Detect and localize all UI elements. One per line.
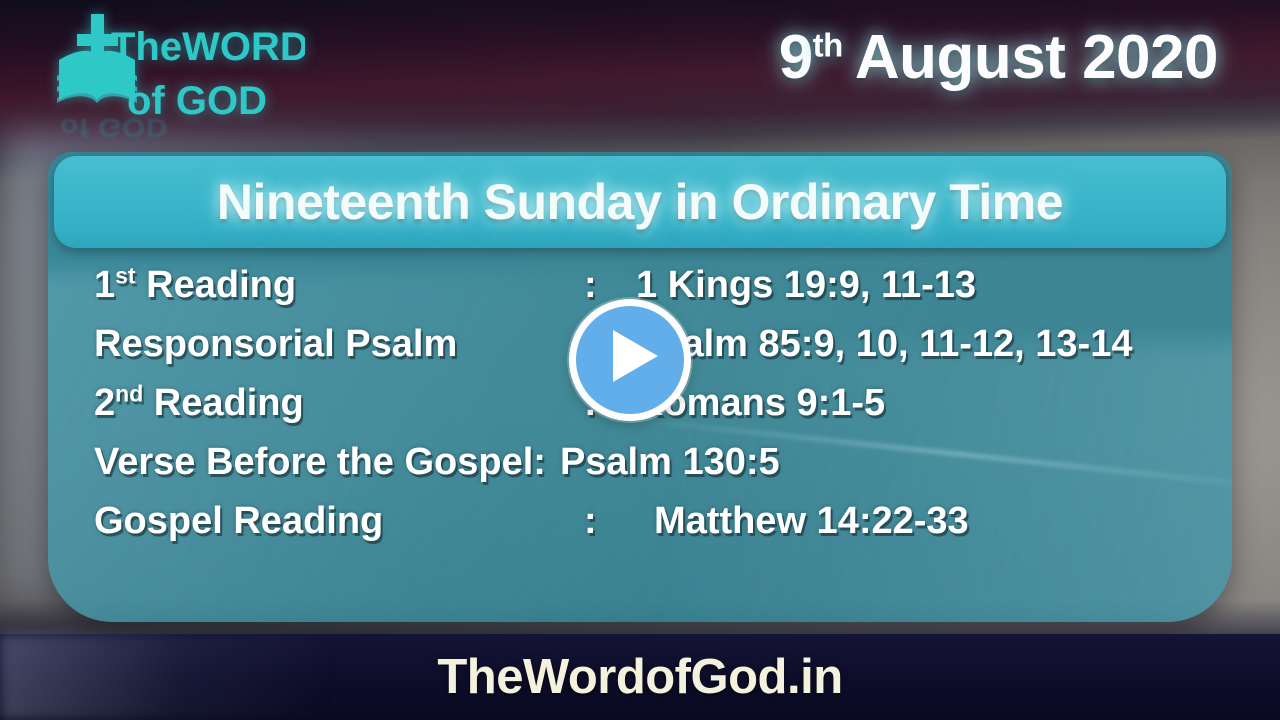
- play-icon: [613, 330, 658, 382]
- page-footer: TheWordofGod.in: [0, 634, 1280, 720]
- reading-reference: Psalm 130:5: [560, 441, 1184, 484]
- site-url: TheWordofGod.in: [437, 649, 842, 705]
- reading-reference: Psalm 85:9, 10, 11-12, 13-14: [636, 323, 1184, 366]
- reading-reference: Romans 9:1-5: [636, 382, 1184, 425]
- date-day: 9th: [779, 23, 843, 92]
- reading-label: 2nd Reading: [94, 382, 584, 425]
- logo-text-line1: TheWORD: [111, 25, 305, 69]
- title-banner: Nineteenth Sunday in Ordinary Time: [54, 156, 1226, 248]
- page-header: TheWORD of GOD of GOD 9thAugust 2020: [0, 0, 1280, 150]
- reading-row-verse-before-gospel: Verse Before the Gospel: Psalm 130:5: [94, 441, 1184, 500]
- reading-separator: :: [584, 500, 654, 543]
- reading-label: Gospel Reading: [94, 500, 584, 543]
- reading-label: Verse Before the Gospel:: [94, 441, 546, 484]
- reading-label: 1st Reading: [94, 264, 584, 307]
- reading-reference: 1 Kings 19:9, 11-13: [636, 264, 1184, 307]
- reading-label: Responsorial Psalm: [94, 323, 584, 366]
- label-ordinal-suffix: st: [115, 262, 135, 288]
- label-ordinal-suffix: nd: [115, 380, 143, 406]
- reading-reference: Matthew 14:22-33: [654, 500, 1184, 543]
- logo-reflection: of GOD: [60, 99, 300, 142]
- date-heading: 9thAugust 2020: [779, 22, 1218, 93]
- date-month-year: August 2020: [855, 23, 1218, 92]
- date-ordinal-suffix: th: [813, 26, 843, 63]
- reading-row-gospel: Gospel Reading : Matthew 14:22-33: [94, 500, 1184, 559]
- liturgical-day-title: Nineteenth Sunday in Ordinary Time: [217, 173, 1063, 231]
- play-button[interactable]: [569, 299, 711, 421]
